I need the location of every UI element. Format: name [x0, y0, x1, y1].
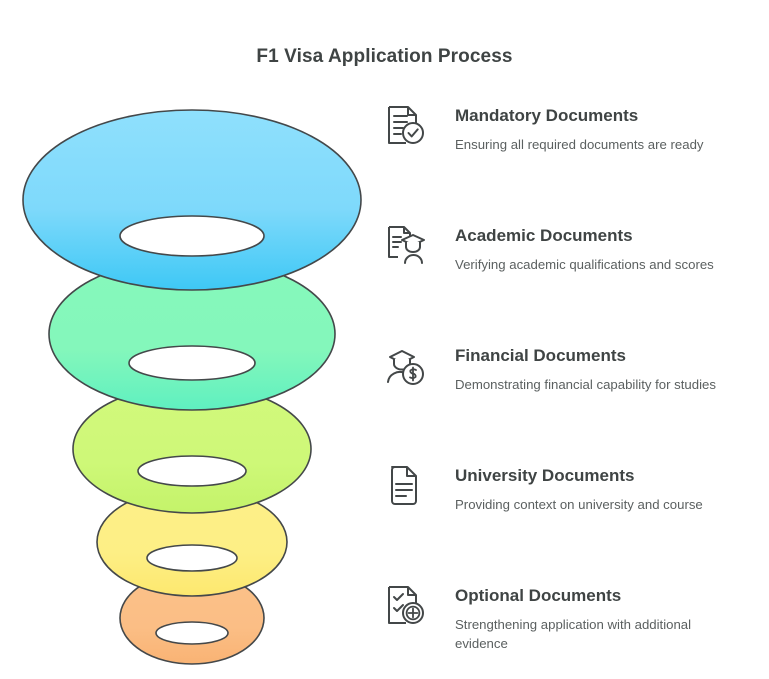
legend-item-university-documents[interactable]: University Documents Providing context o… — [381, 460, 769, 514]
document-lines-icon — [381, 464, 425, 510]
legend-item-financial-documents[interactable]: Financial Documents Demonstrating financ… — [381, 340, 769, 394]
legend-description: Verifying academic qualifications and sc… — [455, 255, 745, 274]
infographic-page: F1 Visa Application Process — [0, 0, 769, 679]
legend-description: Demonstrating financial capability for s… — [455, 375, 745, 394]
page-title: F1 Visa Application Process — [0, 46, 769, 68]
legend-heading: University Documents — [455, 466, 769, 486]
legend-heading: Financial Documents — [455, 346, 769, 366]
document-graduate-icon — [381, 224, 425, 270]
legend-item-academic-documents[interactable]: Academic Documents Verifying academic qu… — [381, 220, 769, 274]
legend-heading: Mandatory Documents — [455, 106, 769, 126]
legend-item-mandatory-documents[interactable]: Mandatory Documents Ensuring all require… — [381, 100, 769, 154]
legend-description: Strengthening application with additiona… — [455, 615, 745, 653]
legend-heading: Academic Documents — [455, 226, 769, 246]
legend-description: Ensuring all required documents are read… — [455, 135, 755, 154]
legend-item-optional-documents[interactable]: Optional Documents Strengthening applica… — [381, 580, 769, 653]
funnel-diagram — [0, 88, 385, 668]
document-checklist-plus-icon — [381, 584, 425, 630]
legend-heading: Optional Documents — [455, 586, 769, 606]
funnel-stage-1 — [23, 110, 361, 290]
legend-description: Providing context on university and cour… — [455, 495, 755, 514]
document-check-icon — [381, 104, 425, 150]
graduate-dollar-icon — [381, 344, 425, 390]
